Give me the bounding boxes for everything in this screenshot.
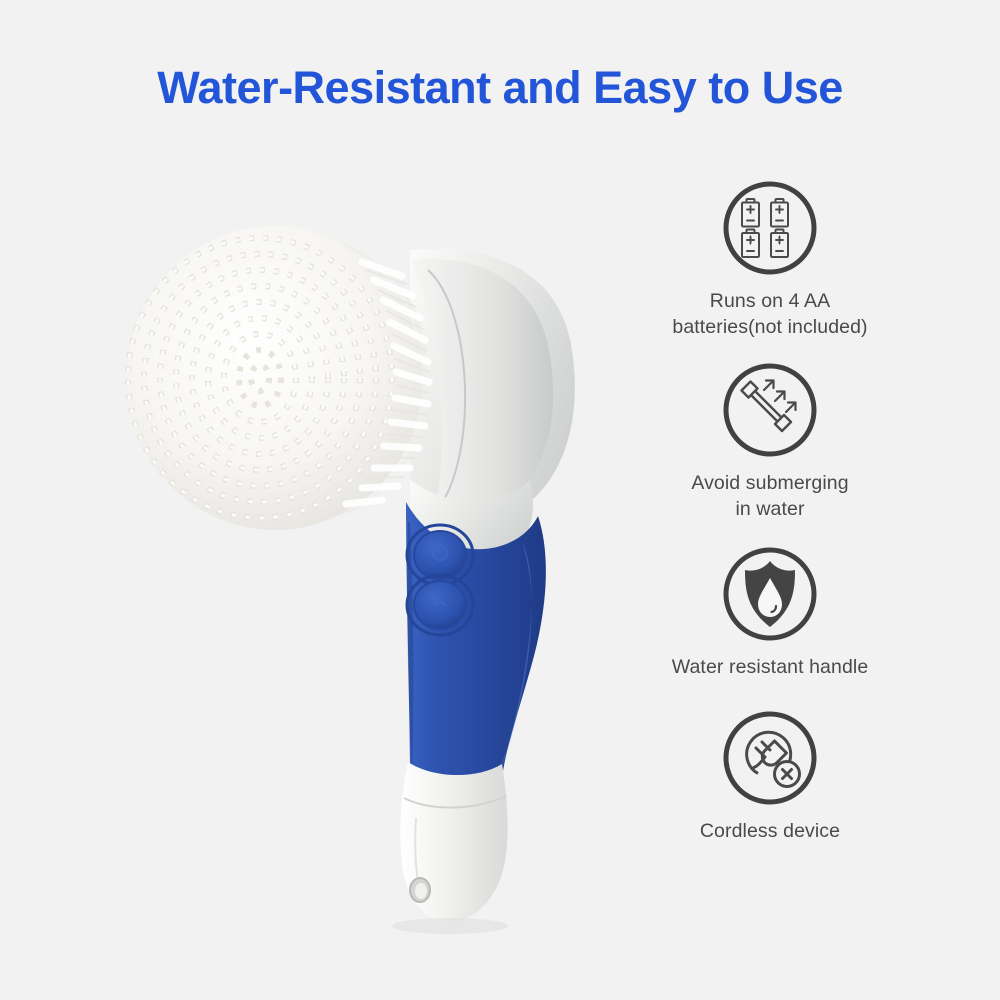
feature-list: Runs on 4 AA batteries(not included) Avo… bbox=[640, 178, 900, 860]
cordless-no-plug-icon bbox=[720, 708, 820, 808]
feature-label-batteries: Runs on 4 AA batteries(not included) bbox=[640, 288, 900, 340]
avoid-submerging-icon bbox=[720, 360, 820, 460]
feature-label-cordless: Cordless device bbox=[640, 818, 900, 844]
page-title: Water-Resistant and Easy to Use bbox=[0, 62, 1000, 114]
product-image bbox=[110, 150, 630, 950]
water-resistant-shield-icon bbox=[720, 544, 820, 644]
feature-item-cordless: Cordless device bbox=[640, 708, 900, 844]
feature-item-batteries: Runs on 4 AA batteries(not included) bbox=[640, 178, 900, 340]
feature-label-water-resistant: Water resistant handle bbox=[640, 654, 900, 680]
batteries-icon bbox=[720, 178, 820, 278]
feature-label-avoid-submerging: Avoid submerging in water bbox=[640, 470, 900, 522]
feature-item-avoid-submerging: Avoid submerging in water bbox=[640, 360, 900, 522]
feature-item-water-resistant: Water resistant handle bbox=[640, 544, 900, 680]
